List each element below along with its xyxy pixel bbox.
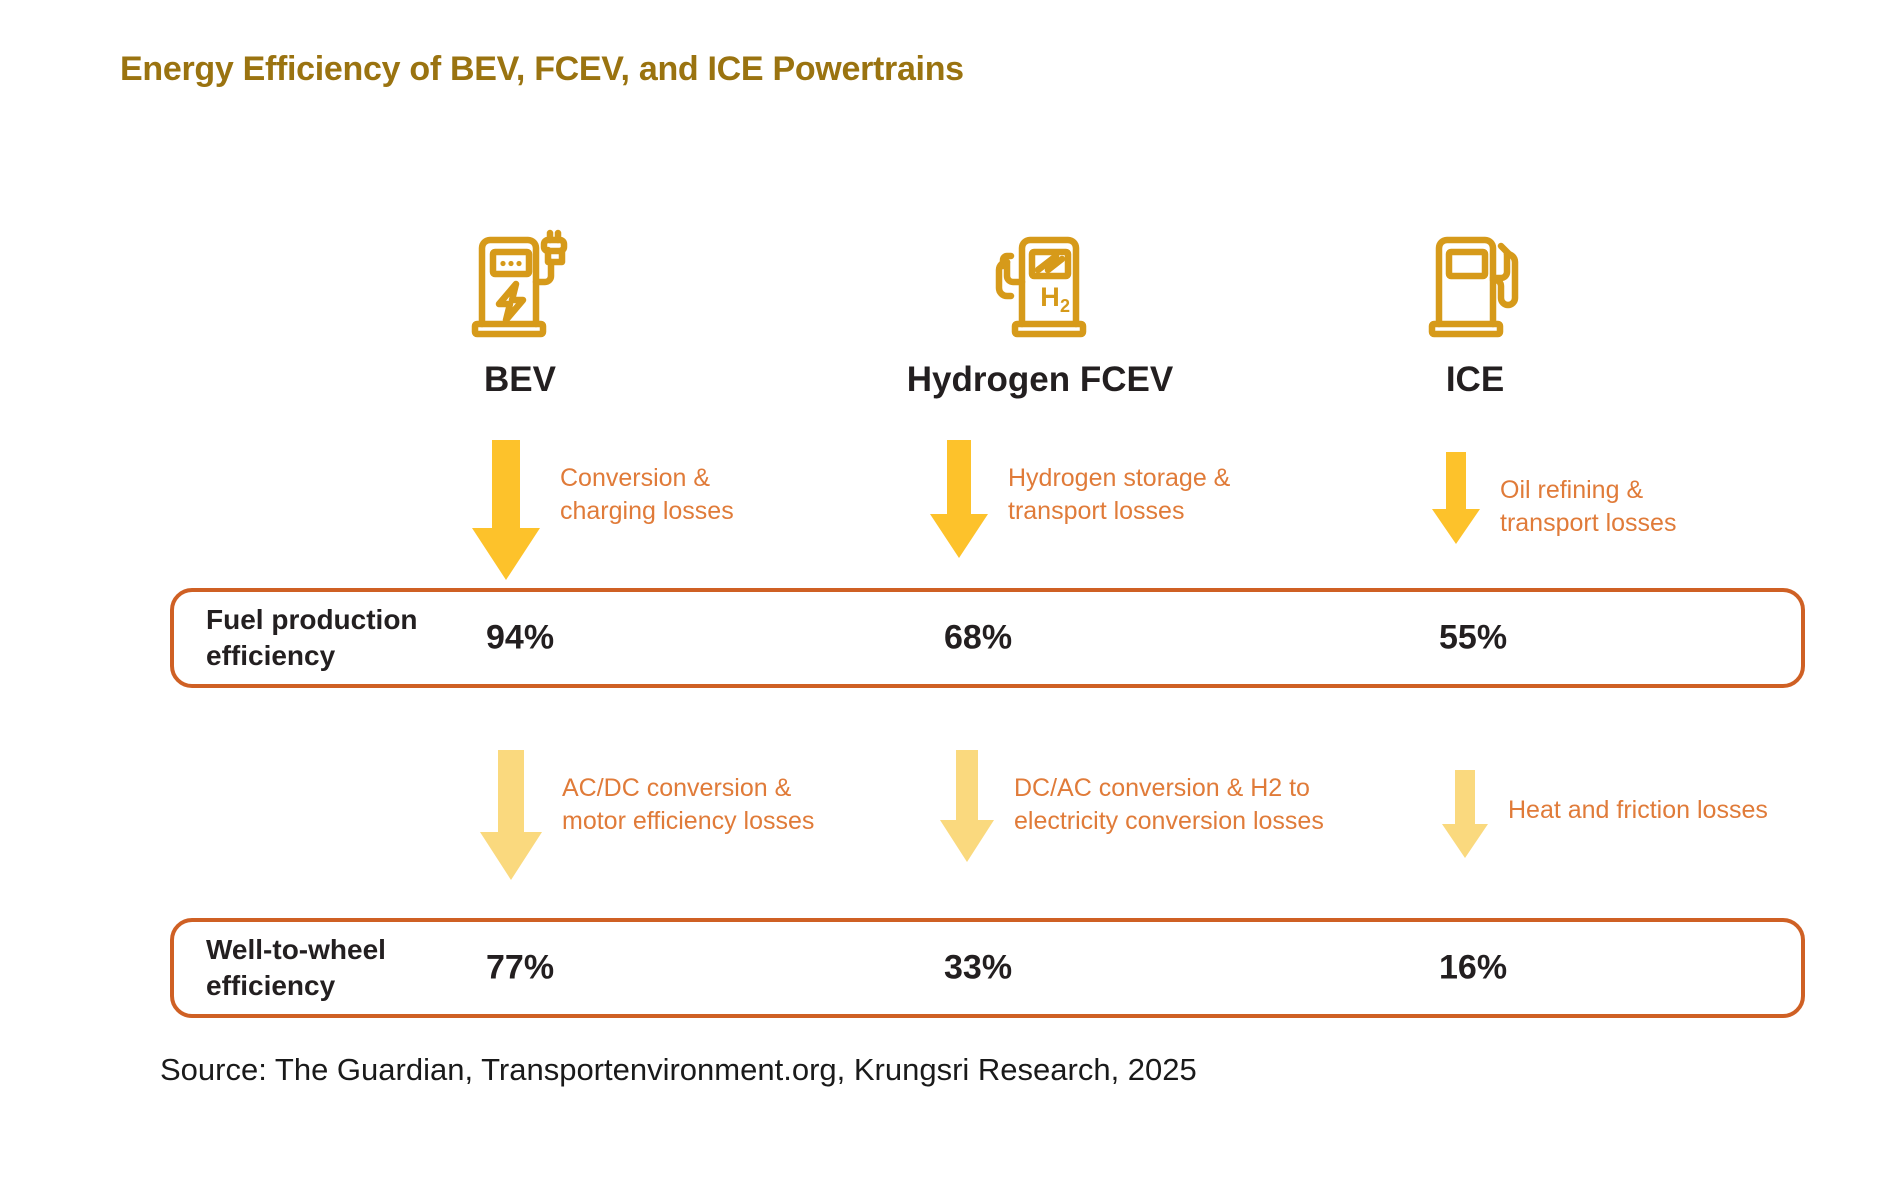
value-fuel-production-fcev: 68% <box>944 619 1012 658</box>
result-bar-well-to-wheel: Well-to-wheel efficiency 77% 33% 16% <box>170 918 1805 1018</box>
loss-group-ice-production: Oil refining & transport losses <box>1430 452 1676 544</box>
down-arrow-icon <box>1430 452 1482 544</box>
loss-label-fcev-wheel: DC/AC conversion & H2 to electricity con… <box>1014 750 1324 838</box>
value-well-to-wheel-bev: 77% <box>486 949 554 988</box>
down-arrow-icon <box>1440 770 1490 858</box>
column-label-bev: BEV <box>370 360 670 400</box>
bar-label-well-to-wheel: Well-to-wheel efficiency <box>206 932 386 1004</box>
value-fuel-production-bev: 94% <box>486 619 554 658</box>
loss-group-ice-wheel: Heat and friction losses <box>1440 770 1768 858</box>
value-fuel-production-ice: 55% <box>1439 619 1507 658</box>
loss-label-fcev-production: Hydrogen storage & transport losses <box>1008 440 1230 528</box>
loss-group-bev-production: Conversion & charging losses <box>470 440 734 580</box>
value-well-to-wheel-ice: 16% <box>1439 949 1507 988</box>
column-label-fcev: Hydrogen FCEV <box>890 360 1190 400</box>
column-head-fcev: H 2 Hydrogen FCEV <box>890 228 1190 400</box>
column-head-bev: BEV <box>370 228 670 400</box>
result-bar-fuel-production: Fuel production efficiency 94% 68% 55% <box>170 588 1805 688</box>
bar-label-fuel-production: Fuel production efficiency <box>206 602 418 674</box>
down-arrow-icon <box>470 440 542 580</box>
loss-group-fcev-production: Hydrogen storage & transport losses <box>928 440 1230 558</box>
svg-text:2: 2 <box>1060 296 1070 316</box>
ev-charging-station-icon <box>370 228 670 346</box>
loss-group-fcev-wheel: DC/AC conversion & H2 to electricity con… <box>938 750 1324 862</box>
loss-label-bev-wheel: AC/DC conversion & motor efficiency loss… <box>562 750 814 838</box>
loss-group-bev-wheel: AC/DC conversion & motor efficiency loss… <box>478 750 814 880</box>
loss-label-bev-production: Conversion & charging losses <box>560 440 734 528</box>
column-label-ice: ICE <box>1325 360 1625 400</box>
gas-fuel-pump-icon <box>1325 228 1625 346</box>
infographic-canvas: Energy Efficiency of BEV, FCEV, and ICE … <box>0 0 1890 1181</box>
value-well-to-wheel-fcev: 33% <box>944 949 1012 988</box>
svg-text:H: H <box>1040 282 1060 312</box>
source-note: Source: The Guardian, Transportenvironme… <box>160 1052 1197 1088</box>
hydrogen-fuel-pump-icon: H 2 <box>890 228 1190 346</box>
column-head-ice: ICE <box>1325 228 1625 400</box>
down-arrow-icon <box>938 750 996 862</box>
down-arrow-icon <box>928 440 990 558</box>
loss-label-ice-production: Oil refining & transport losses <box>1500 452 1676 540</box>
page-title: Energy Efficiency of BEV, FCEV, and ICE … <box>120 50 964 89</box>
down-arrow-icon <box>478 750 544 880</box>
loss-label-ice-wheel: Heat and friction losses <box>1508 770 1768 827</box>
